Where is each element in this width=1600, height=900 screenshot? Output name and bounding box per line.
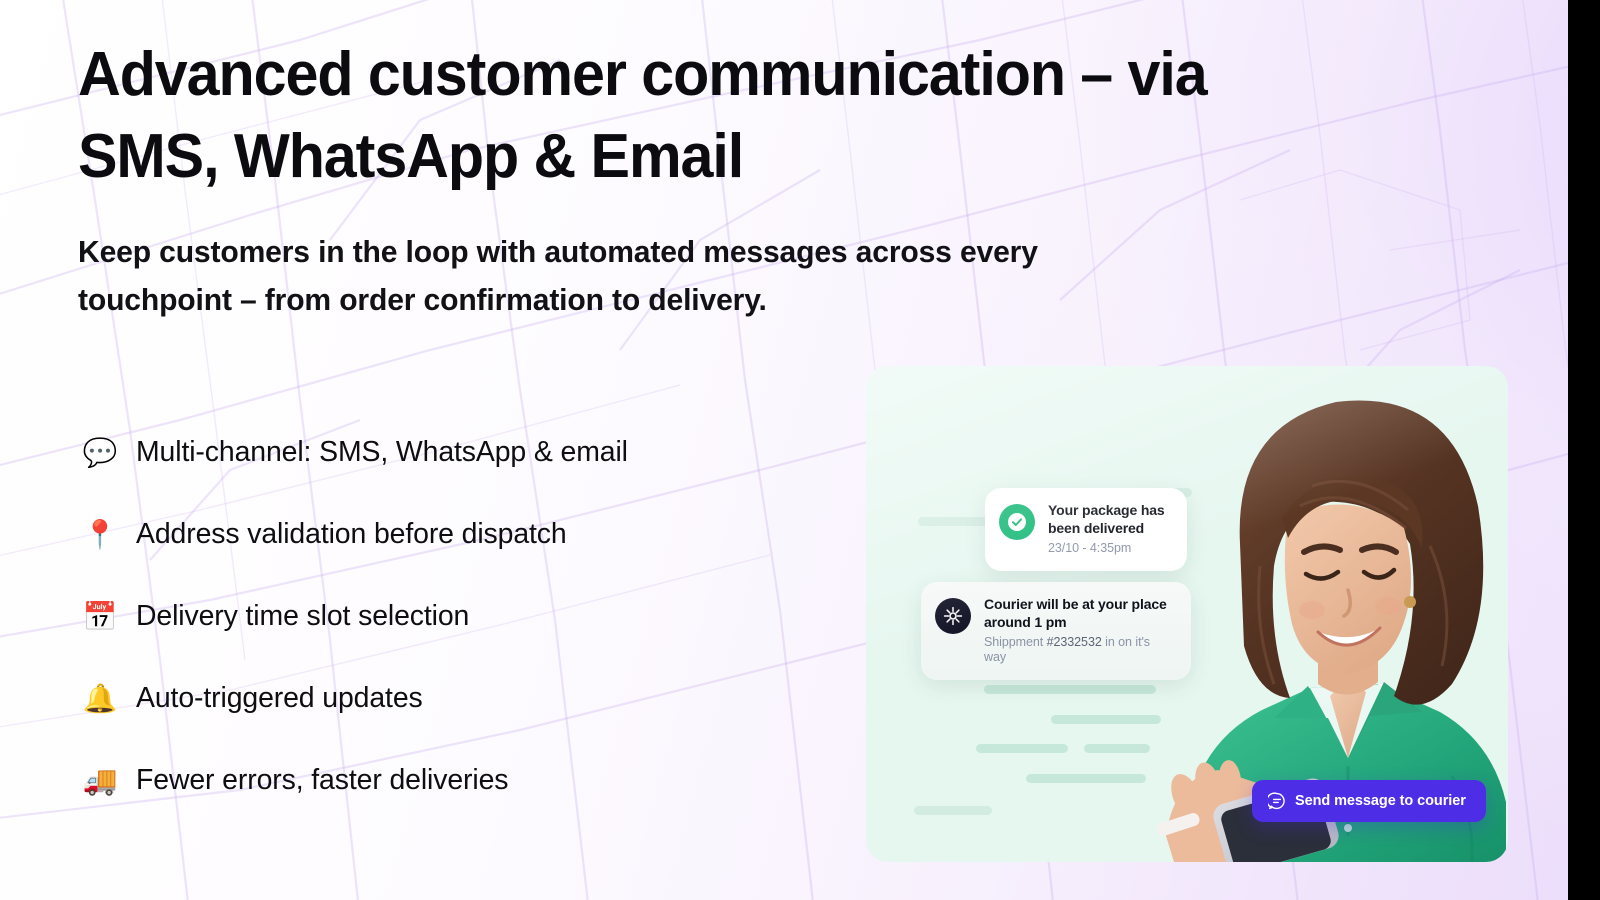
feature-label: Auto-triggered updates: [136, 683, 423, 715]
feature-list: 💬 Multi-channel: SMS, WhatsApp & email 📍…: [78, 412, 898, 822]
hero-section: Advanced customer communication – via SM…: [0, 0, 1600, 900]
feature-label: Delivery time slot selection: [136, 601, 469, 633]
right-edge-band: [1568, 0, 1600, 900]
feature-label: Multi-channel: SMS, WhatsApp & email: [136, 437, 628, 469]
page-title: Advanced customer communication – via SM…: [78, 34, 1434, 198]
bell-icon: 🔔: [78, 685, 122, 713]
speech-balloon-icon: 💬: [78, 439, 122, 467]
cta-label: Send message to courier: [1295, 793, 1466, 809]
chat-bubble-icon: [1268, 792, 1286, 810]
decorative-bar: [914, 806, 992, 815]
shipment-number: #2332532: [1047, 635, 1102, 649]
notification-card-delivered: Your package has been delivered 23/10 - …: [985, 488, 1187, 571]
decorative-bar: [976, 744, 1068, 753]
feature-item-fewer-errors: 🚚 Fewer errors, faster deliveries: [78, 740, 898, 822]
feature-label: Address validation before dispatch: [136, 519, 567, 551]
round-pushpin-icon: 📍: [78, 521, 122, 549]
calendar-icon: 📅: [78, 603, 122, 631]
courier-badge-icon: [935, 598, 971, 634]
shipment-prefix: Shippment: [984, 635, 1047, 649]
hero-illustration-card: Your package has been delivered 23/10 - …: [866, 366, 1508, 862]
feature-item-address-validation: 📍 Address validation before dispatch: [78, 494, 898, 576]
notification-shipment-meta: Shippment #2332532 in on it's way: [984, 635, 1173, 665]
feature-label: Fewer errors, faster deliveries: [136, 765, 508, 797]
feature-item-multi-channel: 💬 Multi-channel: SMS, WhatsApp & email: [78, 412, 898, 494]
notification-card-courier: Courier will be at your place around 1 p…: [921, 582, 1191, 680]
delivery-truck-icon: 🚚: [78, 767, 122, 795]
feature-item-time-slot: 📅 Delivery time slot selection: [78, 576, 898, 658]
feature-item-auto-updates: 🔔 Auto-triggered updates: [78, 658, 898, 740]
notification-title: Courier will be at your place around 1 p…: [984, 596, 1173, 631]
notification-timestamp: 23/10 - 4:35pm: [1048, 541, 1165, 556]
send-message-to-courier-button[interactable]: Send message to courier: [1252, 780, 1486, 822]
page-subtitle: Keep customers in the loop with automate…: [78, 228, 1368, 324]
notification-title: Your package has been delivered: [1048, 502, 1165, 537]
check-circle-icon: [999, 504, 1035, 540]
